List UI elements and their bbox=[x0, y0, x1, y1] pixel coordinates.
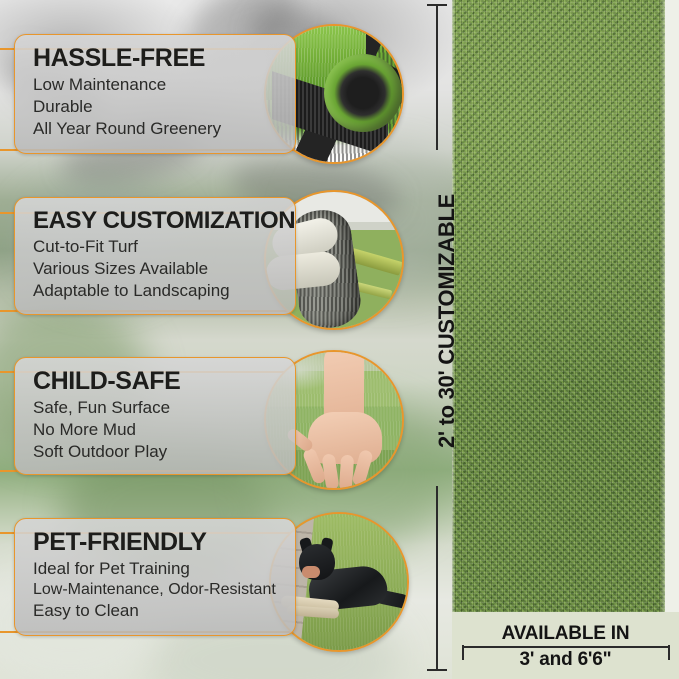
feature-bullet: Adaptable to Landscaping bbox=[33, 280, 281, 302]
feature-bullet: Low-Maintenance, Odor-Resistant bbox=[33, 580, 281, 600]
feature-bullet: Safe, Fun Surface bbox=[33, 397, 281, 419]
dog-snout bbox=[302, 566, 320, 578]
feature-bullet: Durable bbox=[33, 96, 281, 118]
width-label-bottom: 3' and 6'6" bbox=[452, 649, 679, 671]
length-label: 2' to 30' CUSTOMIZABLE bbox=[434, 156, 460, 486]
feature-bullet: Soft Outdoor Play bbox=[33, 441, 281, 463]
feature-card-child-safe: CHILD-SAFE Safe, Fun Surface No More Mud… bbox=[14, 357, 296, 475]
feature-bullet: All Year Round Greenery bbox=[33, 118, 281, 140]
feature-bullet: Easy to Clean bbox=[33, 600, 281, 622]
measure-tick-bottom bbox=[427, 669, 447, 671]
feature-title: HASSLE-FREE bbox=[33, 45, 281, 71]
product-infographic: HASSLE-FREE Low Maintenance Durable All … bbox=[0, 0, 679, 679]
feature-card-pet-friendly: PET-FRIENDLY Ideal for Pet Training Low-… bbox=[14, 518, 296, 636]
feature-bullet: No More Mud bbox=[33, 419, 281, 441]
right-gutter bbox=[665, 0, 679, 612]
feature-title: CHILD-SAFE bbox=[33, 368, 281, 394]
measure-line-upper bbox=[436, 4, 438, 150]
width-measurement: AVAILABLE IN 3' and 6'6" bbox=[452, 614, 679, 679]
feature-bullet: Low Maintenance bbox=[33, 74, 281, 96]
artificial-turf-strip bbox=[452, 0, 665, 612]
turf-roll-coil bbox=[324, 54, 402, 132]
feature-title: PET-FRIENDLY bbox=[33, 529, 281, 555]
measure-line-lower bbox=[436, 486, 438, 671]
feature-bullet: Ideal for Pet Training bbox=[33, 558, 281, 580]
measure-line-horizontal bbox=[462, 646, 669, 648]
child-finger bbox=[339, 455, 354, 490]
width-label-bottom-text: 3' and 6'6" bbox=[514, 649, 618, 670]
feature-card-easy-customization: EASY CUSTOMIZATION Cut-to-Fit Turf Vario… bbox=[14, 197, 296, 315]
feature-bullet: Cut-to-Fit Turf bbox=[33, 236, 281, 258]
width-label-top: AVAILABLE IN bbox=[452, 623, 679, 645]
feature-bullet: Various Sizes Available bbox=[33, 258, 281, 280]
feature-title: EASY CUSTOMIZATION bbox=[33, 208, 281, 233]
width-label-top-text: AVAILABLE IN bbox=[496, 623, 636, 644]
length-measurement: 2' to 30' CUSTOMIZABLE bbox=[424, 0, 450, 679]
feature-card-hassle-free: HASSLE-FREE Low Maintenance Durable All … bbox=[14, 34, 296, 154]
